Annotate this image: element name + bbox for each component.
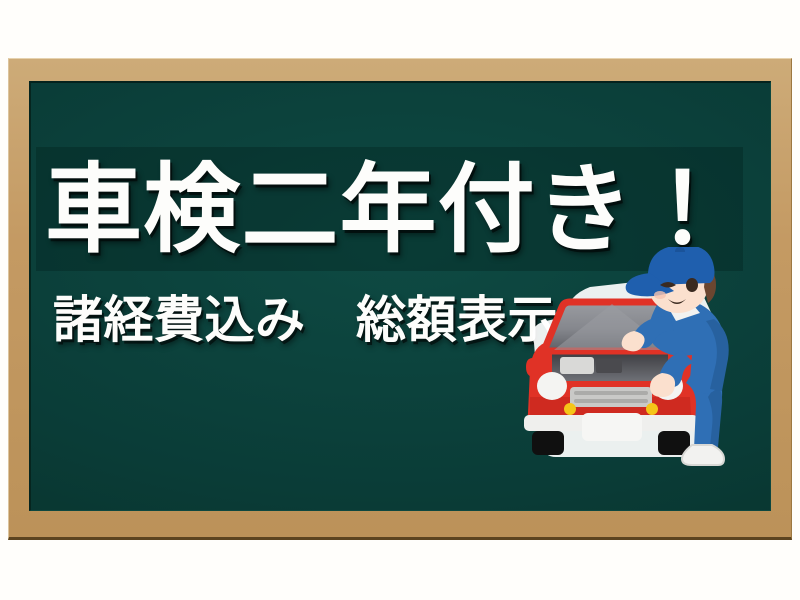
car-grille-slot-2 bbox=[574, 399, 648, 403]
turn-signal-left bbox=[564, 403, 576, 415]
mechanic-cheek bbox=[654, 291, 666, 299]
mechanic-eye-right bbox=[686, 278, 698, 292]
tire-left bbox=[532, 431, 564, 455]
car-grille bbox=[570, 387, 652, 407]
turn-signal-right bbox=[646, 403, 658, 415]
chalkboard-surface: 車検二年付き！ 諸経費込み 総額表示 bbox=[29, 81, 771, 511]
headlight-left bbox=[537, 372, 567, 400]
chalkboard-frame: 車検二年付き！ 諸経費込み 総額表示 bbox=[8, 58, 792, 540]
mechanic-inspecting-car-illustration bbox=[500, 247, 760, 482]
front-bumper-center bbox=[582, 413, 642, 441]
engine-block-secondary bbox=[596, 359, 622, 373]
mechanic-shoes bbox=[682, 445, 724, 465]
car-grille-slot-1 bbox=[574, 391, 648, 395]
poster-subtitle: 諸経費込み 総額表示 bbox=[53, 295, 558, 345]
engine-block bbox=[560, 357, 594, 374]
poster-canvas: 車検二年付き！ 諸経費込み 総額表示 bbox=[0, 0, 800, 600]
